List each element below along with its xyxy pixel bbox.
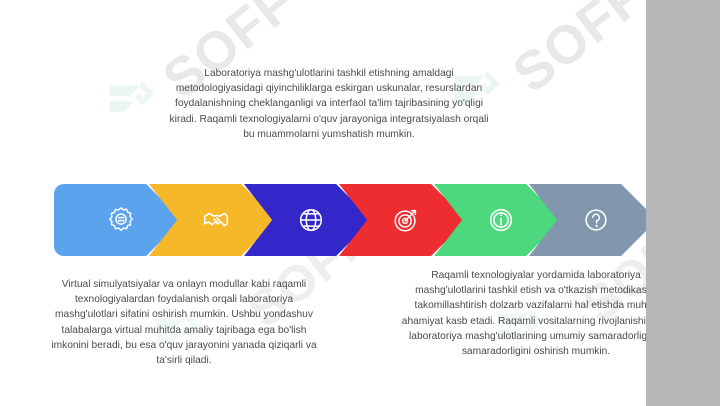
- question-mark-icon: [581, 205, 611, 235]
- outer-background: [646, 0, 720, 406]
- top-paragraph: Laboratoriya mashg'ulotlarini tashkil et…: [168, 66, 490, 142]
- bottom-right-paragraph: Raqamli texnologiyalar yordamida laborat…: [400, 268, 646, 359]
- info-circle-icon: [486, 205, 516, 235]
- bottom-left-paragraph: Virtual simulyatsiyalar va onlayn modull…: [48, 277, 320, 368]
- badge-gear-icon: [106, 205, 136, 235]
- arrow-process-band: [0, 178, 646, 262]
- globe-icon: [296, 205, 326, 235]
- soff-logo-icon: [104, 72, 166, 134]
- watermark-text: SOFF: [502, 0, 646, 105]
- target-dart-icon: [391, 205, 421, 235]
- slide-canvas: SOFF SOFF SOFF SOFF Laboratoriya mashg'u…: [0, 0, 646, 406]
- handshake-icon: [201, 205, 231, 235]
